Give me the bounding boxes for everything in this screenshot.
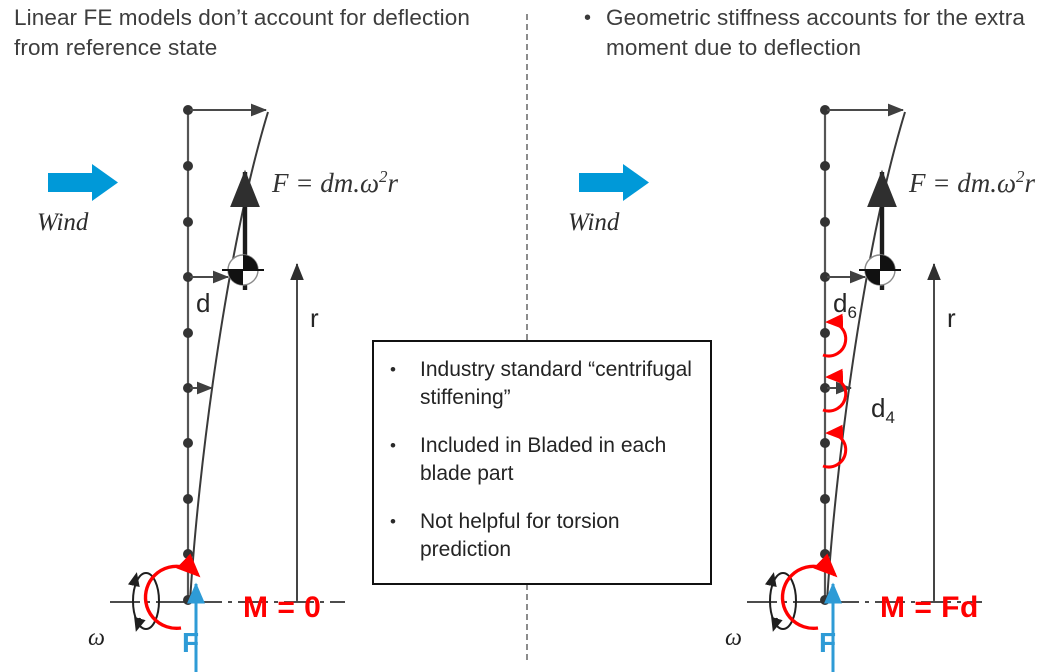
deflection-label-d4: d4: [871, 393, 895, 428]
info-bullet-text: Included in Bladed in each blade part: [420, 432, 700, 488]
info-bullet-item: • Industry standard “centrifugal stiffen…: [390, 356, 700, 412]
bullet-icon: •: [390, 432, 420, 460]
deflected-blade-curve: [827, 112, 905, 602]
nodal-moment-arc: [823, 322, 846, 356]
deflected-blade-curve: [190, 112, 268, 602]
nodal-moment-arc: [823, 433, 846, 467]
wind-label: Wind: [37, 209, 88, 237]
info-bullet-text: Industry standard “centrifugal stiffenin…: [420, 356, 700, 412]
moment-label: M = Fd: [880, 591, 979, 625]
deflection-label-d: d: [196, 288, 210, 319]
info-bullet-item: • Not helpful for torsion prediction: [390, 508, 700, 564]
info-callout-box: • Industry standard “centrifugal stiffen…: [372, 340, 712, 585]
slide-root: • Linear FE models don’t account for def…: [0, 0, 1062, 672]
bullet-icon: •: [390, 356, 420, 384]
omega-label: ω: [88, 625, 105, 652]
moment-label: M = 0: [243, 591, 321, 625]
centrifugal-force-formula: F = dm.ω2r: [909, 167, 1035, 199]
wind-arrow-icon: [48, 164, 118, 201]
wind-arrow-icon: [579, 164, 649, 201]
wind-label: Wind: [568, 209, 619, 237]
radius-label-r: r: [947, 303, 956, 334]
nodal-moment-arc: [823, 377, 846, 411]
root-force-label: F: [182, 627, 199, 659]
deflection-label-d6: d6: [833, 288, 857, 323]
root-force-label: F: [819, 627, 836, 659]
omega-label: ω: [725, 625, 742, 652]
radius-label-r: r: [310, 303, 319, 334]
centrifugal-force-formula: F = dm.ω2r: [272, 167, 398, 199]
info-bullet-text: Not helpful for torsion prediction: [420, 508, 700, 564]
bullet-icon: •: [390, 508, 420, 536]
info-bullet-item: • Included in Bladed in each blade part: [390, 432, 700, 488]
